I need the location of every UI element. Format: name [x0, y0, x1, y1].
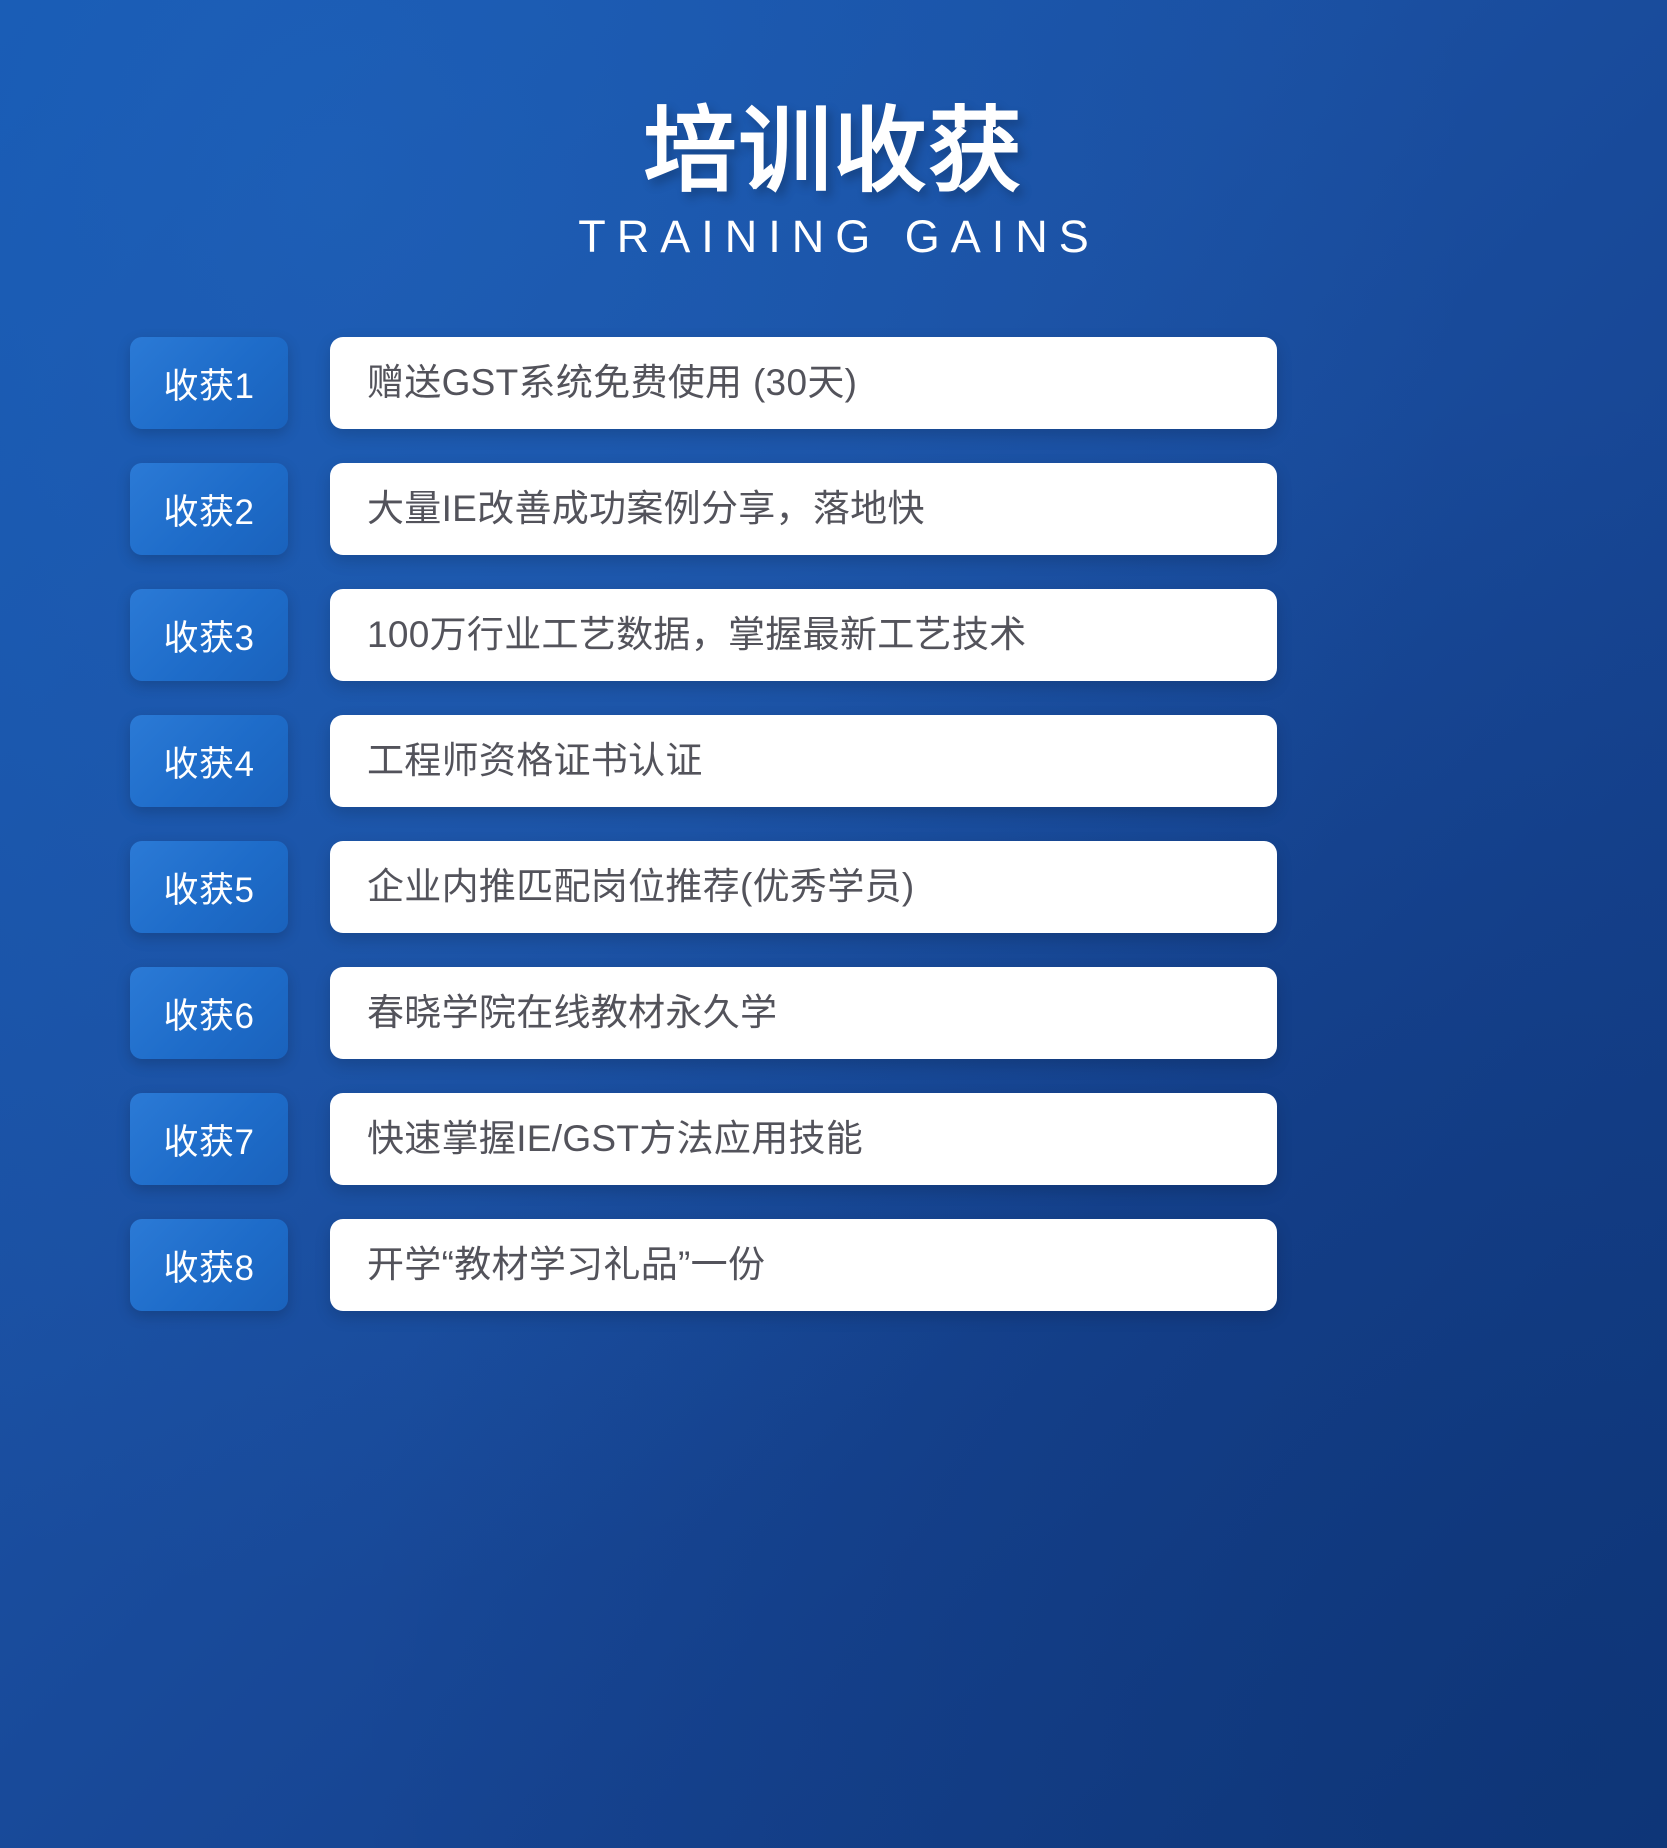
training-gains-poster: 培训收获 TRAINING GAINS 收获1 赠送GST系统免费使用 (30天… [0, 0, 1667, 1848]
gain-card-4: 工程师资格证书认证 [330, 715, 1277, 807]
gain-text-4: 工程师资格证书认证 [367, 740, 703, 783]
gain-card-2: 大量IE改善成功案例分享，落地快 [330, 463, 1277, 555]
gains-list: 收获1 赠送GST系统免费使用 (30天) 收获2 大量IE改善成功案例分享，落… [0, 337, 1667, 1311]
list-item: 收获4 工程师资格证书认证 [0, 715, 1667, 807]
gain-badge-1: 收获1 [130, 337, 288, 429]
gain-text-2: 大量IE改善成功案例分享，落地快 [367, 488, 925, 531]
gain-card-3: 100万行业工艺数据，掌握最新工艺技术 [330, 589, 1277, 681]
poster-header: 培训收获 TRAINING GAINS [0, 0, 1667, 261]
gain-text-5: 企业内推匹配岗位推荐(优秀学员) [367, 866, 914, 909]
list-item: 收获7 快速掌握IE/GST方法应用技能 [0, 1093, 1667, 1185]
list-item: 收获6 春晓学院在线教材永久学 [0, 967, 1667, 1059]
page-title: 培训收获 [0, 103, 1667, 200]
gain-card-6: 春晓学院在线教材永久学 [330, 967, 1277, 1059]
gain-text-7: 快速掌握IE/GST方法应用技能 [367, 1118, 863, 1161]
gain-text-6: 春晓学院在线教材永久学 [367, 992, 777, 1035]
gain-badge-4: 收获4 [130, 715, 288, 807]
gain-card-5: 企业内推匹配岗位推荐(优秀学员) [330, 841, 1277, 933]
list-item: 收获1 赠送GST系统免费使用 (30天) [0, 337, 1667, 429]
gain-badge-8: 收获8 [130, 1219, 288, 1311]
gain-text-1: 赠送GST系统免费使用 (30天) [367, 362, 857, 405]
gain-badge-3: 收获3 [130, 589, 288, 681]
list-item: 收获3 100万行业工艺数据，掌握最新工艺技术 [0, 589, 1667, 681]
gain-text-3: 100万行业工艺数据，掌握最新工艺技术 [367, 614, 1026, 657]
gain-text-8: 开学“教材学习礼品”一份 [367, 1244, 765, 1287]
gain-card-7: 快速掌握IE/GST方法应用技能 [330, 1093, 1277, 1185]
list-item: 收获8 开学“教材学习礼品”一份 [0, 1219, 1667, 1311]
gain-badge-6: 收获6 [130, 967, 288, 1059]
list-item: 收获5 企业内推匹配岗位推荐(优秀学员) [0, 841, 1667, 933]
gain-badge-7: 收获7 [130, 1093, 288, 1185]
gain-card-1: 赠送GST系统免费使用 (30天) [330, 337, 1277, 429]
page-subtitle: TRAINING GAINS [0, 212, 1667, 262]
gain-badge-5: 收获5 [130, 841, 288, 933]
list-item: 收获2 大量IE改善成功案例分享，落地快 [0, 463, 1667, 555]
gain-card-8: 开学“教材学习礼品”一份 [330, 1219, 1277, 1311]
gain-badge-2: 收获2 [130, 463, 288, 555]
